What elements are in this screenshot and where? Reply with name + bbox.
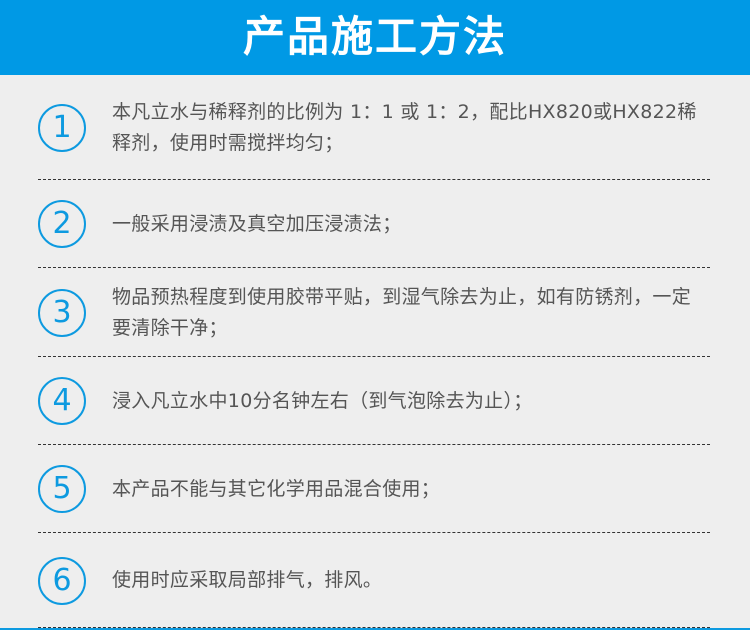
list-item: 2 一般采用浸渍及真空加压浸渍法； [0,180,750,268]
list-item: 5 本产品不能与其它化学用品混合使用； [0,445,750,533]
step-number-badge: 4 [38,377,86,425]
step-number-badge: 2 [38,200,86,248]
step-number-badge: 1 [38,104,86,152]
step-text: 使用时应采取局部排气，排风。 [112,565,382,596]
list-item: 3 物品预热程度到使用胶带平贴，到湿气除去为止，如有防锈剂，一定要清除干净； [0,268,750,357]
step-text: 一般采用浸渍及真空加压浸渍法； [112,209,402,240]
product-application-method-page: 产品施工方法 1 本凡立水与稀释剂的比例为 1：1 或 1：2，配比HX820或… [0,0,750,630]
step-number-badge: 5 [38,465,86,513]
steps-list: 1 本凡立水与稀释剂的比例为 1：1 或 1：2，配比HX820或HX822稀释… [0,75,750,628]
step-text: 物品预热程度到使用胶带平贴，到湿气除去为止，如有防锈剂，一定要清除干净； [112,282,707,344]
page-title: 产品施工方法 [243,16,507,58]
step-number-badge: 6 [38,557,86,605]
step-text: 本凡立水与稀释剂的比例为 1：1 或 1：2，配比HX820或HX822稀释剂，… [112,97,707,159]
step-text: 浸入凡立水中10分名钟左右（到气泡除去为止）； [112,386,533,417]
step-text: 本产品不能与其它化学用品混合使用； [112,474,440,505]
page-header-banner: 产品施工方法 [0,0,750,75]
list-item: 6 使用时应采取局部排气，排风。 [0,533,750,628]
list-item: 4 浸入凡立水中10分名钟左右（到气泡除去为止）； [0,357,750,445]
step-number-badge: 3 [38,289,86,337]
list-item: 1 本凡立水与稀释剂的比例为 1：1 或 1：2，配比HX820或HX822稀释… [0,75,750,180]
